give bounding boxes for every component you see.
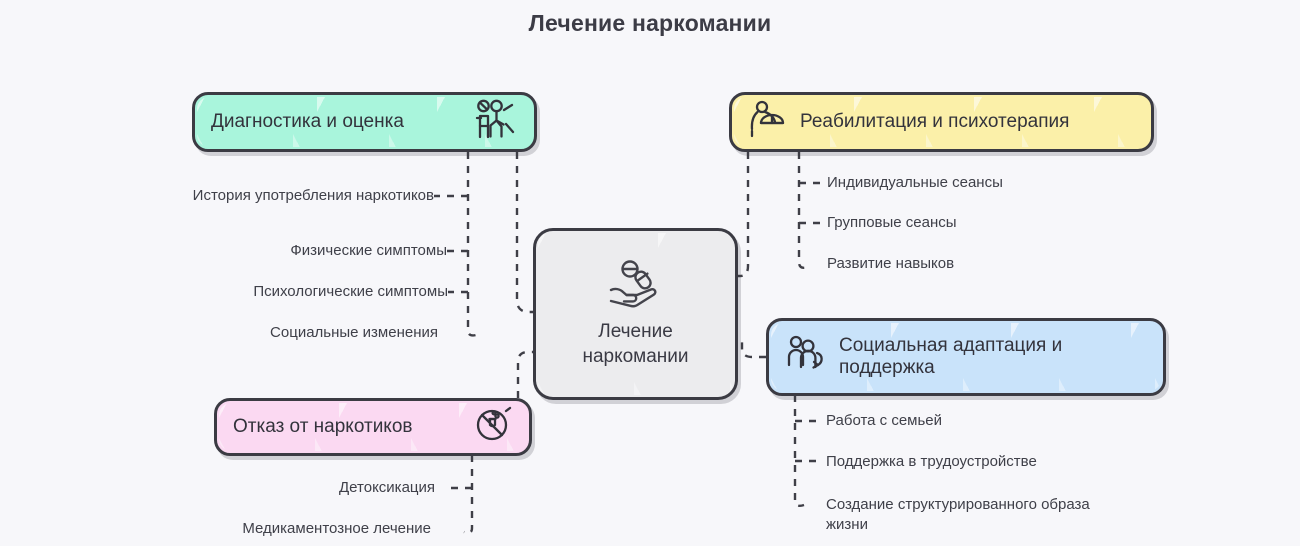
leaf-rehabilitation-2: Развитие навыков: [827, 254, 1127, 274]
center-node-label: Лечение наркомании: [582, 320, 688, 369]
link-diagnostics-trunk: [468, 152, 476, 335]
leaf-drug-refusal-0: Детоксикация: [110, 478, 435, 498]
leaf-social-adaptation-1: Поддержка в трудоустройстве: [826, 452, 1146, 472]
leaf-rehabilitation-1: Групповые сеансы: [827, 213, 1127, 233]
branch-node-rehabilitation-label: Реабилитация и психотерапия: [800, 111, 1069, 133]
mindmap-canvas: Лечение наркомании: [0, 0, 1300, 546]
leaf-diagnostics-3: Социальные изменения: [100, 323, 438, 343]
leaf-rehabilitation-0: Индивидуальные сеансы: [827, 173, 1127, 193]
leaf-diagnostics-0: История употребления наркотиков: [100, 186, 434, 206]
leaf-social-adaptation-2: Создание структурированного образа жизни: [826, 495, 1136, 535]
branch-node-diagnostics[interactable]: Диагностика и оценка: [192, 92, 537, 152]
leaf-social-adaptation-0: Работа с семьей: [826, 411, 1146, 431]
people-transition-icon: [785, 333, 829, 382]
link-center-drug-refusal: [518, 352, 533, 398]
hand-holding-pills-icon: [603, 259, 669, 314]
center-node[interactable]: Лечение наркомании: [533, 228, 738, 400]
branch-node-social-adaptation-label: Социальная адаптация и поддержка: [839, 335, 1062, 380]
branch-node-drug-refusal[interactable]: Отказ от наркотиков: [214, 398, 532, 456]
page-title: Лечение наркомании: [0, 10, 1300, 37]
link-center-social-adaptation: [742, 342, 766, 357]
link-center-diagnostics: [517, 152, 533, 312]
link-drug-refusal-trunk: [464, 455, 472, 533]
no-drugs-icon: [473, 405, 513, 450]
branch-node-diagnostics-label: Диагностика и оценка: [211, 111, 464, 133]
branch-node-drug-refusal-label: Отказ от наркотиков: [233, 416, 463, 438]
branch-node-rehabilitation[interactable]: Реабилитация и психотерапия: [729, 92, 1154, 152]
branch-node-social-adaptation[interactable]: Социальная адаптация и поддержка: [766, 318, 1166, 396]
therapy-support-icon: [748, 99, 790, 146]
leaf-drug-refusal-1: Медикаментозное лечение: [110, 519, 431, 539]
leaf-diagnostics-1: Физические симптомы: [100, 241, 447, 261]
consultation-interview-icon: [474, 98, 518, 147]
link-social-adaptation-trunk: [795, 395, 804, 506]
leaf-diagnostics-2: Психологические симптомы: [100, 282, 448, 302]
link-rehabilitation-trunk: [799, 152, 808, 268]
